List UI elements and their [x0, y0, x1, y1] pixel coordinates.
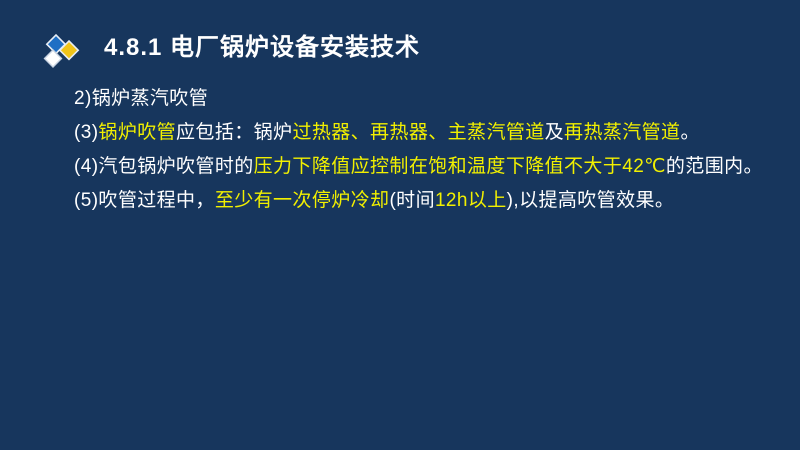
text-run: 应包括：锅炉 [176, 122, 292, 143]
slide-body: 2)锅炉蒸汽吹管 (3)锅炉吹管应包括：锅炉过热器、再热器、主蒸汽管道及再热蒸汽… [36, 82, 766, 218]
slide-canvas: 4.8.1 电厂锅炉设备安装技术 2)锅炉蒸汽吹管 (3)锅炉吹管应包括：锅炉过… [0, 0, 800, 450]
content-paragraph: (3)锅炉吹管应包括：锅炉过热器、再热器、主蒸汽管道及再热蒸汽管道。 [36, 116, 766, 150]
text-run-highlight: 至少有一次停炉冷却 [215, 190, 390, 211]
text-run: 及 [545, 122, 564, 143]
text-run-highlight: 压力下降值应控制在饱和温度下降值不大于42℃ [254, 156, 666, 177]
text-run: (3) [74, 122, 98, 143]
text-run: (时间 [389, 190, 435, 211]
text-run-highlight: 锅炉吹管 [98, 122, 176, 143]
text-run: (5)吹管过程中， [74, 190, 215, 211]
content-paragraph: (5)吹管过程中，至少有一次停炉冷却(时间12h以上),以提高吹管效果。 [36, 184, 766, 218]
text-run: ),以提高吹管效果。 [507, 190, 675, 211]
text-run: 2)锅炉蒸汽吹管 [74, 88, 208, 109]
text-run: 。 [680, 122, 699, 143]
text-run-highlight: 12h以上 [435, 190, 507, 211]
page-title: 4.8.1 电厂锅炉设备安装技术 [104, 36, 420, 60]
content-paragraph: 2)锅炉蒸汽吹管 [36, 82, 766, 116]
content-paragraph: (4)汽包锅炉吹管时的压力下降值应控制在饱和温度下降值不大于42℃的范围内。 [36, 150, 766, 184]
text-run: (4)汽包锅炉吹管时的 [74, 156, 254, 177]
text-run-highlight: 过热器、再热器、主蒸汽管道 [292, 122, 544, 143]
text-run-highlight: 再热蒸汽管道 [564, 122, 680, 143]
text-run: 的范围内。 [666, 156, 763, 177]
slide-header: 4.8.1 电厂锅炉设备安装技术 [0, 22, 800, 74]
three-diamond-logo [42, 25, 88, 71]
three-diamond-logo-glyph [42, 25, 88, 71]
